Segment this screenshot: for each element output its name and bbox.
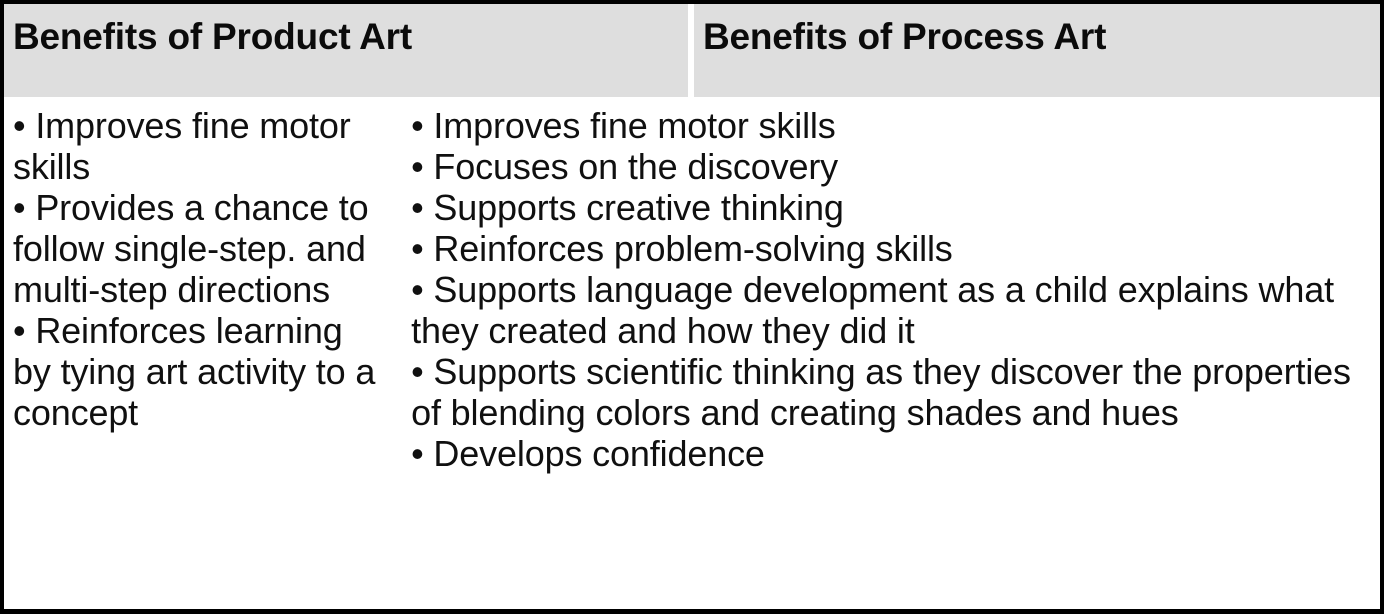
list-item: Improves fine motor skills — [411, 105, 1370, 146]
list-item: Focuses on the discovery — [411, 146, 1370, 187]
table-header-row: Benefits of Product Art Benefits of Proc… — [4, 4, 1380, 97]
column-header-process-art: Benefits of Process Art — [703, 16, 1380, 58]
list-item: Develops confidence — [411, 433, 1370, 474]
header-cell-product-art: Benefits of Product Art — [4, 4, 688, 97]
bullet-list-product-art: Improves fine motor skills Provides a ch… — [13, 105, 382, 433]
list-item: Reinforces problem-solving skills — [411, 228, 1370, 269]
body-cell-process-art: Improves fine motor skills Focuses on th… — [396, 97, 1380, 609]
header-cell-process-art: Benefits of Process Art — [694, 4, 1380, 97]
list-item: Supports scientific thinking as they dis… — [411, 351, 1370, 433]
comparison-table: Benefits of Product Art Benefits of Proc… — [0, 0, 1384, 614]
list-item: Provides a chance to follow single-step.… — [13, 187, 382, 310]
bullet-list-process-art: Improves fine motor skills Focuses on th… — [411, 105, 1370, 474]
list-item: Supports creative thinking — [411, 187, 1370, 228]
list-item: Reinforces learning by tying art activit… — [13, 310, 382, 433]
body-cell-product-art: Improves fine motor skills Provides a ch… — [4, 97, 396, 609]
column-header-product-art: Benefits of Product Art — [13, 16, 688, 58]
list-item: Supports language development as a child… — [411, 269, 1370, 351]
table-body-row: Improves fine motor skills Provides a ch… — [4, 97, 1380, 609]
list-item: Improves fine motor skills — [13, 105, 382, 187]
